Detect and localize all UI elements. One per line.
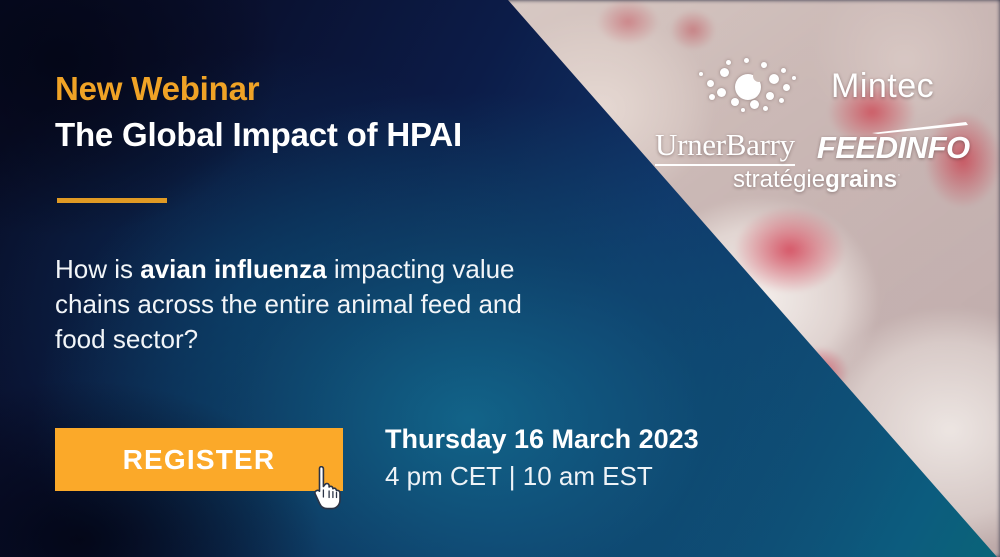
- subcopy-pre: How is: [55, 254, 140, 284]
- subcopy-text: How is avian influenza impacting value c…: [55, 252, 555, 357]
- trademark-mark: ·: [897, 169, 901, 181]
- grains-word: grains: [825, 166, 897, 193]
- eyebrow-label: New Webinar: [55, 70, 259, 108]
- accent-divider: [57, 198, 167, 203]
- page-title: The Global Impact of HPAI: [55, 116, 462, 154]
- partner-logos-row: UrnerBarry FEEDINFO: [655, 120, 970, 166]
- brand-logo-lockup: Mintec UrnerBarry FEEDINFO stratégiegrai…: [655, 58, 990, 208]
- webinar-time: 4 pm CET | 10 am EST: [385, 461, 805, 492]
- mintec-dot-cluster-icon: [695, 58, 815, 114]
- webinar-promo-banner: New Webinar The Global Impact of HPAI Ho…: [0, 0, 1000, 557]
- feedinfo-wordmark: FEEDINFO: [817, 130, 970, 165]
- register-button[interactable]: REGISTER: [55, 428, 343, 491]
- feedinfo-swoosh-icon: [872, 122, 968, 134]
- strategiegrains-logo: stratégiegrains·: [733, 166, 901, 194]
- urnerbarry-wordmark: UrnerBarry: [655, 129, 795, 166]
- register-button-label: REGISTER: [123, 444, 276, 476]
- mintec-wordmark: Mintec: [831, 67, 934, 106]
- schedule-block: Thursday 16 March 2023 4 pm CET | 10 am …: [385, 424, 805, 492]
- webinar-date: Thursday 16 March 2023: [385, 424, 805, 455]
- subcopy-emphasis: avian influenza: [140, 254, 326, 284]
- strategie-word: stratégie: [733, 166, 825, 193]
- mintec-logo: Mintec: [695, 58, 934, 114]
- feedinfo-logo: FEEDINFO: [817, 120, 970, 166]
